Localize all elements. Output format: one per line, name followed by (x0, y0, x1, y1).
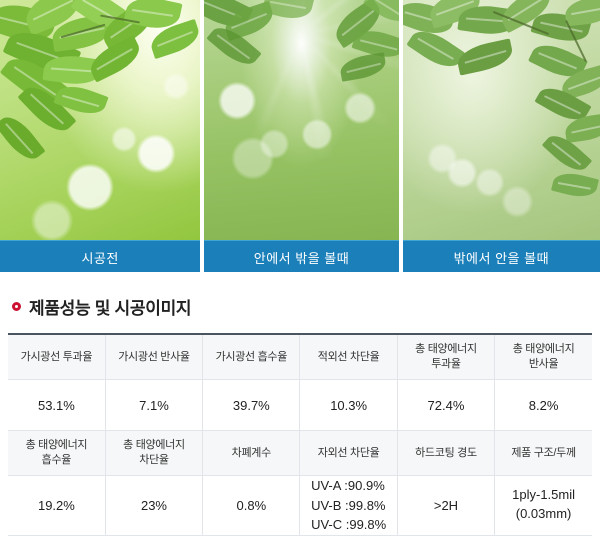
table-header-row-2: 총 태양에너지 흡수율 총 태양에너지 차단율 차폐계수 자외선 차단율 하드코… (8, 431, 592, 476)
uv-c-value: UV-C :99.8% (311, 515, 386, 535)
table-value-cell: 72.4% (397, 380, 494, 431)
table-value-cell: 7.1% (105, 380, 202, 431)
caption-view-from-outside: 밖에서 안을 볼때 (403, 240, 600, 272)
uv-a-value: UV-A :90.9% (311, 476, 386, 496)
leaf-shape (563, 0, 600, 26)
uv-b-value: UV-B :99.8% (311, 496, 386, 516)
installation-image-gallery: 시공전 안에서 밖을 볼때 (0, 0, 600, 272)
photo-view-from-inside (204, 0, 398, 240)
gallery-panel-outside-in[interactable]: 밖에서 안을 볼때 (403, 0, 600, 272)
table-value-cell: 23% (105, 476, 202, 536)
table-value-cell: 8.2% (495, 380, 592, 431)
spec-table-wrapper: 가시광선 투과율 가시광선 반사율 가시광선 흡수율 적외선 차단율 총 태양에… (0, 333, 600, 536)
page-title: 제품성능 및 시공이미지 (29, 294, 191, 319)
table-header-cell: 차폐계수 (203, 431, 300, 476)
ring-bullet-icon (12, 302, 21, 311)
gallery-panel-inside-out[interactable]: 안에서 밖을 볼때 (204, 0, 398, 272)
table-header-cell: 적외선 차단율 (300, 334, 397, 380)
table-header-cell: 가시광선 흡수율 (203, 334, 300, 380)
gallery-panel-before[interactable]: 시공전 (0, 0, 200, 272)
table-value-cell: 53.1% (8, 380, 105, 431)
table-value-cell-thickness: 1ply-1.5mil (0.03mm) (495, 476, 592, 536)
caption-view-from-inside: 안에서 밖을 볼때 (204, 240, 398, 272)
table-value-cell: 0.8% (203, 476, 300, 536)
table-header-cell: 자외선 차단율 (300, 431, 397, 476)
photo-before-installation (0, 0, 200, 240)
table-value-cell: 39.7% (203, 380, 300, 431)
product-performance-table: 가시광선 투과율 가시광선 반사율 가시광선 흡수율 적외선 차단율 총 태양에… (8, 333, 592, 536)
table-header-cell: 가시광선 투과율 (8, 334, 105, 380)
leaf-shape (551, 169, 599, 201)
section-header: 제품성능 및 시공이미지 (0, 272, 600, 333)
table-header-cell: 총 태양에너지 반사율 (495, 334, 592, 380)
table-header-cell: 총 태양에너지 차단율 (105, 431, 202, 476)
table-header-cell: 가시광선 반사율 (105, 334, 202, 380)
table-header-cell: 제품 구조/두께 (495, 431, 592, 476)
table-row: 53.1% 7.1% 39.7% 10.3% 72.4% 8.2% (8, 380, 592, 431)
leaf-shape (455, 38, 515, 75)
table-header-cell: 총 태양에너지 투과율 (397, 334, 494, 380)
table-row: 19.2% 23% 0.8% UV-A :90.9% UV-B :99.8% U… (8, 476, 592, 536)
table-header-row-1: 가시광선 투과율 가시광선 반사율 가시광선 흡수율 적외선 차단율 총 태양에… (8, 334, 592, 380)
table-header-cell: 하드코팅 경도 (397, 431, 494, 476)
caption-before-installation: 시공전 (0, 240, 200, 272)
table-header-cell: 총 태양에너지 흡수율 (8, 431, 105, 476)
table-value-cell: 19.2% (8, 476, 105, 536)
table-value-cell-uv: UV-A :90.9% UV-B :99.8% UV-C :99.8% (300, 476, 397, 536)
table-value-cell: >2H (397, 476, 494, 536)
photo-view-from-outside (403, 0, 600, 240)
table-value-cell: 10.3% (300, 380, 397, 431)
